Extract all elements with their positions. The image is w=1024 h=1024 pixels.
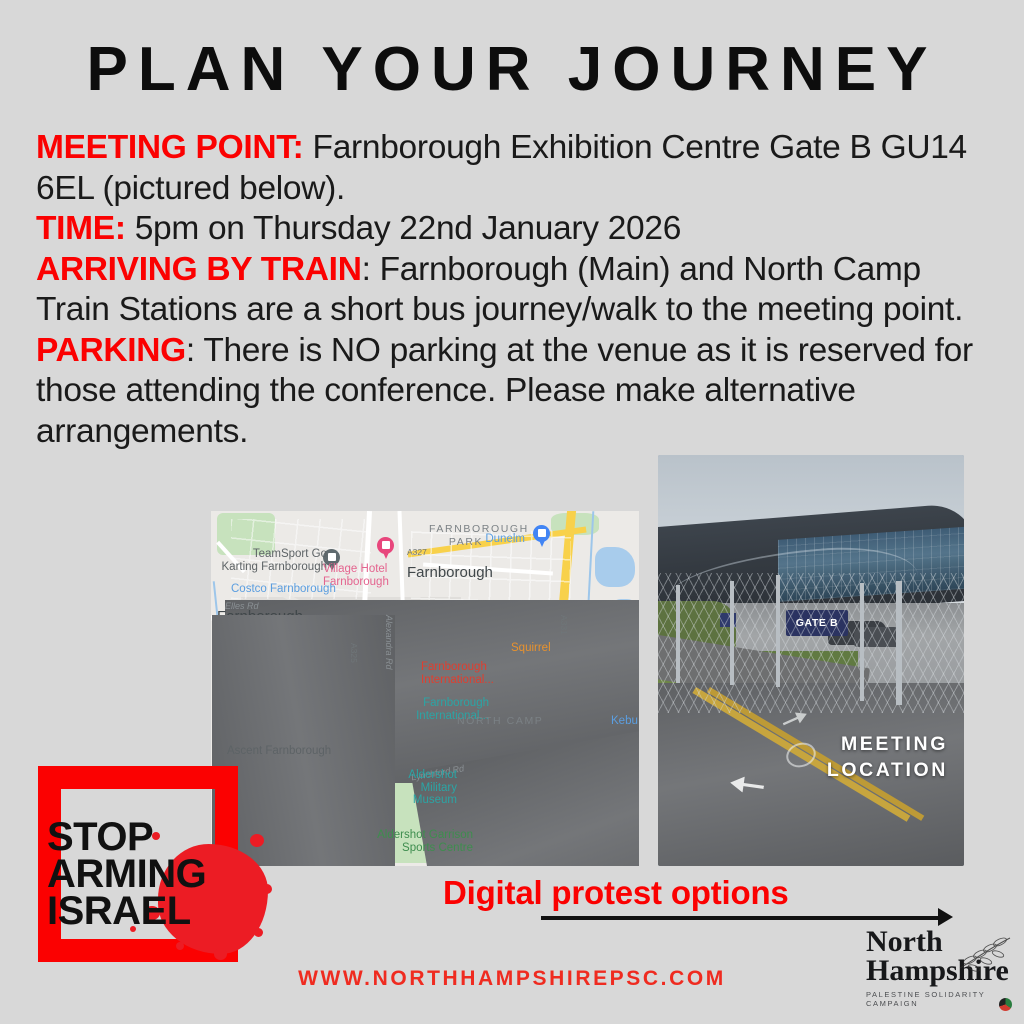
map-label-farnborough-park: FARNBOROUGH PARK [429,523,503,548]
detail-label-parking: PARKING [36,332,186,369]
detail-meeting-point: MEETING POINT: Farnborough Exhibition Ce… [36,128,996,209]
map-label-kebu: Kebu [611,715,638,728]
logo-line-stop: STOP [47,819,206,856]
splatter-dot [214,948,227,960]
page-title: PLAN YOUR JOURNEY [0,34,1024,105]
map-label-squirrel: Squirrel [511,642,551,655]
splatter-dot [250,834,264,847]
map-label-farnborough-international: Farnborough International... [421,661,495,686]
detail-parking: PARKING: There is NO parking at the venu… [36,331,996,453]
map-label-aldershot-sports: Aldershot Garrison Sports Centre [377,829,473,854]
meeting-location-photo[interactable]: GATE B MEETING LOCATION [658,455,964,866]
logo-line-israel: ISRAEL [47,893,206,930]
digital-protest-options-label: Digital protest options [443,874,789,912]
map-label-alexandra-rd: Alexandra Rd [212,615,395,866]
logo-line-arming: ARMING [47,856,206,893]
logo-text: STOP ARMING ISRAEL [47,819,206,930]
map-label-north-camp: NORTH CAMP [457,715,543,728]
photo-caption-line2: LOCATION [827,757,948,783]
detail-label-train: ARRIVING BY TRAIN [36,251,362,288]
detail-label-meeting-point: MEETING POINT: [36,129,304,166]
photo-fence-post [776,575,780,687]
splatter-dot [176,942,184,950]
location-map[interactable]: Dunelm TeamSport Go Karting Farnborough … [211,511,639,866]
logo-tagline: PALESTINE SOLIDARITY CAMPAIGN [866,990,1014,1008]
detail-text-time: 5pm on Thursday 22nd January 2026 [126,210,681,247]
map-canvas: Dunelm TeamSport Go Karting Farnborough … [211,511,639,866]
detail-time: TIME: 5pm on Thursday 22nd January 2026 [36,209,996,250]
journey-details: MEETING POINT: Farnborough Exhibition Ce… [36,128,996,452]
arrow-shaft-icon [541,916,946,920]
map-label-aldershot-museum: Aldershot Military Museum [377,769,457,807]
photo-fence-post [860,583,864,701]
map-label-farnborough: Farnborough [407,567,493,580]
map-label-a325: A325 [349,643,359,663]
photo-fence-post [676,585,680,683]
photo-fence-gate-post [896,581,902,705]
poster-canvas: PLAN YOUR JOURNEY MEETING POINT: Farnbor… [0,0,1024,1024]
map-label-ascent: Ascent Farnborough [227,745,331,758]
olive-branch-icon [956,934,1012,974]
splatter-dot [262,884,272,894]
map-label-a327: A327 [407,547,427,557]
psc-emblem-icon [999,998,1012,1011]
photo-security-fence [658,573,964,713]
map-water [595,547,635,587]
photo-fence-post [730,581,734,685]
map-label-a331: A331 [559,615,569,635]
north-hampshire-psc-logo: North Hampshire PALESTINE SOLIDARITY CAM… [866,928,1014,1012]
map-label-teamsport: TeamSport Go Karting Farnborough [221,548,327,573]
splatter-dot [254,928,263,937]
arrow-head-icon [938,908,953,926]
photo-caption-line1: MEETING [827,731,948,757]
stop-arming-israel-logo: STOP ARMING ISRAEL [38,766,238,962]
map-pin-village-hotel[interactable] [377,537,394,560]
detail-label-time: TIME: [36,210,126,247]
photo-caption: MEETING LOCATION [827,731,948,783]
map-label-costco: Costco Farnborough [231,583,336,596]
map-pin-dunelm[interactable] [533,525,550,548]
detail-train: ARRIVING BY TRAIN: Farnborough (Main) an… [36,250,996,331]
